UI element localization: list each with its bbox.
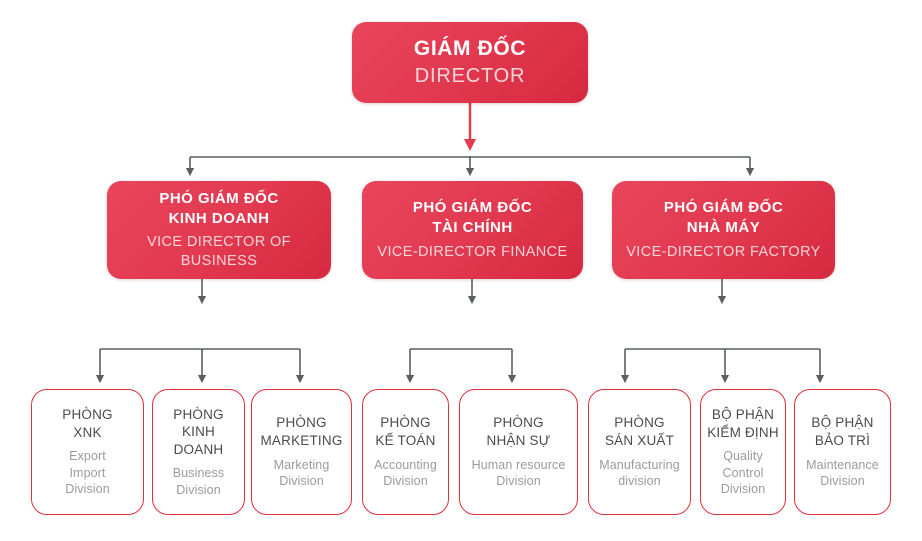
node-vice-director-finance-en: VICE-DIRECTOR FINANCE <box>377 243 567 262</box>
division-title-en: Manufacturing division <box>599 457 680 490</box>
division-title-en: Business Division <box>173 465 225 498</box>
node-division-quality-control[interactable]: BỘ PHẬN KIỂM ĐỊNH Quality Control Divisi… <box>700 389 786 515</box>
vn-line-1: PHÓ GIÁM ĐỐC <box>664 198 783 218</box>
division-title-en: Maintenance Division <box>806 457 879 490</box>
node-vice-director-business-vn: PHÓ GIÁM ĐỐC KINH DOANH <box>159 189 278 229</box>
vn-line-1: PHÒNG <box>62 406 113 424</box>
vn-line-1: PHÒNG <box>173 406 224 424</box>
en-line-2: Import <box>65 465 110 482</box>
en-line-1: VICE DIRECTOR OF <box>147 233 291 252</box>
en-line-2: Division <box>806 473 879 490</box>
node-division-manufacturing[interactable]: PHÒNG SÁN XUẤT Manufacturing division <box>588 389 691 515</box>
node-vice-director-finance[interactable]: PHÓ GIÁM ĐỐC TÀI CHÍNH VICE-DIRECTOR FIN… <box>362 181 583 279</box>
vn-line-2: XNK <box>62 424 113 442</box>
en-line-2: division <box>599 473 680 490</box>
division-title-vn: PHÒNG NHẬN SỰ <box>487 414 551 449</box>
vn-line-2: NHẬN SỰ <box>487 432 551 450</box>
division-title-vn: PHÒNG SÁN XUẤT <box>605 414 674 449</box>
vn-line-1: PHÓ GIÁM ĐỐC <box>413 198 532 218</box>
en-line-1: Marketing <box>274 457 330 474</box>
node-vice-director-factory[interactable]: PHÓ GIÁM ĐỐC NHÀ MÁY VICE-DIRECTOR FACTO… <box>612 181 835 279</box>
en-line-2: Division <box>173 482 225 499</box>
en-line-1: Maintenance <box>806 457 879 474</box>
division-title-vn: BỘ PHẬN KIỂM ĐỊNH <box>707 406 779 441</box>
node-director[interactable]: GIÁM ĐỐC DIRECTOR <box>352 22 588 103</box>
node-vice-director-factory-en: VICE-DIRECTOR FACTORY <box>626 243 821 262</box>
en-line-2: BUSINESS <box>147 252 291 271</box>
vn-line-2: KẾ TOÁN <box>375 432 435 450</box>
division-title-en: Quality Control Division <box>721 448 766 498</box>
division-title-en: Marketing Division <box>274 457 330 490</box>
en-line-2: Division <box>472 473 566 490</box>
vn-line-1: BỘ PHẬN <box>707 406 779 424</box>
vn-line-1: PHÒNG <box>605 414 674 432</box>
en-line-2: Control <box>721 465 766 482</box>
en-line-2: Division <box>374 473 437 490</box>
division-title-vn: PHÒNG MARKETING <box>260 414 342 449</box>
connector-group-business <box>100 279 300 379</box>
node-division-accounting[interactable]: PHÒNG KẾ TOÁN Accounting Division <box>362 389 449 515</box>
division-title-vn: PHÒNG KẾ TOÁN <box>375 414 435 449</box>
node-division-maintenance[interactable]: BỘ PHẬN BẢO TRÌ Maintenance Division <box>794 389 891 515</box>
node-director-title-vn: GIÁM ĐỐC <box>414 37 526 62</box>
division-title-en: Export Import Division <box>65 448 110 498</box>
vn-line-3: DOANH <box>173 441 224 459</box>
connector-level1-bus <box>190 156 750 172</box>
division-title-vn: PHÒNG XNK <box>62 406 113 441</box>
vn-line-2: NHÀ MÁY <box>664 218 783 238</box>
vn-line-2: KINH <box>173 423 224 441</box>
en-line-1: Export <box>65 448 110 465</box>
vn-line-2: SÁN XUẤT <box>605 432 674 450</box>
en-line-1: Business <box>173 465 225 482</box>
en-line-1: Manufacturing <box>599 457 680 474</box>
node-director-title-en: DIRECTOR <box>415 64 525 88</box>
node-division-business[interactable]: PHÒNG KINH DOANH Business Division <box>152 389 245 515</box>
division-title-en: Human resource Division <box>472 457 566 490</box>
division-title-vn: PHÒNG KINH DOANH <box>173 406 224 459</box>
node-vice-director-business[interactable]: PHÓ GIÁM ĐỐC KINH DOANH VICE DIRECTOR OF… <box>107 181 331 279</box>
vn-line-1: PHÒNG <box>375 414 435 432</box>
division-title-en: Accounting Division <box>374 457 437 490</box>
org-chart: GIÁM ĐỐC DIRECTOR PHÓ GIÁM ĐỐC KINH DOAN… <box>0 0 922 541</box>
node-vice-director-finance-vn: PHÓ GIÁM ĐỐC TÀI CHÍNH <box>413 198 532 238</box>
en-line-3: Division <box>721 481 766 498</box>
en-line-2: Division <box>274 473 330 490</box>
en-line-1: VICE-DIRECTOR FACTORY <box>626 243 821 262</box>
vn-line-1: BỘ PHẬN <box>811 414 873 432</box>
node-vice-director-factory-vn: PHÓ GIÁM ĐỐC NHÀ MÁY <box>664 198 783 238</box>
en-line-1: Quality <box>721 448 766 465</box>
vn-line-2: TÀI CHÍNH <box>413 218 532 238</box>
node-division-export-import[interactable]: PHÒNG XNK Export Import Division <box>31 389 144 515</box>
vn-line-2: KINH DOANH <box>159 209 278 229</box>
connector-group-finance <box>410 279 512 379</box>
vn-line-2: BẢO TRÌ <box>811 432 873 450</box>
vn-line-2: MARKETING <box>260 432 342 450</box>
division-title-vn: BỘ PHẬN BẢO TRÌ <box>811 414 873 449</box>
vn-line-1: PHÓ GIÁM ĐỐC <box>159 189 278 209</box>
connector-group-factory <box>625 279 820 379</box>
en-line-1: VICE-DIRECTOR FINANCE <box>377 243 567 262</box>
vn-line-2: KIỂM ĐỊNH <box>707 424 779 442</box>
vn-line-1: PHÒNG <box>487 414 551 432</box>
en-line-1: Accounting <box>374 457 437 474</box>
vn-line-1: PHÒNG <box>260 414 342 432</box>
node-vice-director-business-en: VICE DIRECTOR OF BUSINESS <box>147 233 291 271</box>
en-line-1: Human resource <box>472 457 566 474</box>
en-line-3: Division <box>65 481 110 498</box>
node-division-marketing[interactable]: PHÒNG MARKETING Marketing Division <box>251 389 352 515</box>
node-division-human-resource[interactable]: PHÒNG NHẬN SỰ Human resource Division <box>459 389 578 515</box>
